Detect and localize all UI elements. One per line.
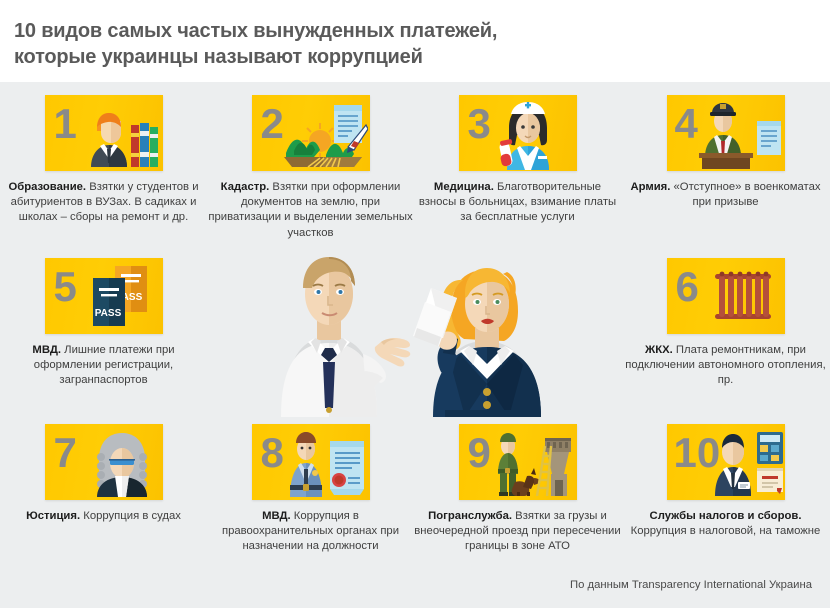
page-title-line-2: которые украинцы называют коррупцией (14, 44, 714, 70)
card-1-title: Образование. (8, 181, 86, 193)
tax-officer-calculator-icon (709, 430, 785, 496)
passports-icon: PASS PASS (85, 264, 159, 330)
card-6[interactable]: 6 (621, 258, 830, 389)
infographic-canvas: 10 видов самых частых вынужденных платеж… (0, 0, 830, 608)
card-3-title: Медицина. (434, 181, 494, 193)
border-guard-tower-icon (489, 430, 575, 496)
card-9-number: 9 (468, 432, 491, 474)
card-3[interactable]: 3 (414, 95, 621, 226)
man-and-woman-with-papers-illustration (255, 242, 575, 417)
card-8[interactable]: 8 (207, 424, 414, 555)
card-6-number: 6 (676, 266, 699, 308)
military-officer-desk-icon (693, 99, 783, 169)
card-3-number: 3 (468, 103, 491, 145)
card-4-text: «Отступное» в военкоматах при призыве (670, 181, 820, 208)
card-2-caption: Кадастр. Взятки при оформлении документо… (207, 180, 414, 241)
card-10-caption: Службы налогов и сборов. Коррупция в нал… (621, 509, 830, 539)
card-10-title: Службы налогов и сборов. (650, 510, 802, 522)
source-note: По данным Transparency International Укр… (570, 579, 812, 591)
card-7-image: 7 (45, 424, 163, 500)
card-5-number: 5 (54, 266, 77, 308)
card-1[interactable]: 1 (0, 95, 207, 226)
card-8-text: Коррупция в правоохранительных органах п… (222, 510, 399, 552)
card-7-caption: Юстиция. Коррупция в судах (0, 509, 207, 524)
card-5-caption: МВД. Лишние платежи при оформлении регис… (0, 343, 207, 389)
card-8-caption: МВД. Коррупция в правоохранительных орга… (207, 509, 414, 555)
card-3-caption: Медицина. Благотворительные взносы в бол… (414, 180, 621, 226)
businessman-shrugging (281, 257, 410, 417)
card-7-number: 7 (54, 432, 77, 474)
card-7[interactable]: 7 (0, 424, 207, 524)
card-4-title: Армия. (630, 181, 670, 193)
card-8-number: 8 (261, 432, 284, 474)
card-8-image: 8 (252, 424, 370, 500)
card-row-3: 7 (0, 424, 830, 574)
card-1-image: 1 (45, 95, 163, 171)
card-3-image: 3 (459, 95, 577, 171)
card-row-1: 1 (0, 95, 830, 245)
header: 10 видов самых частых вынужденных платеж… (0, 0, 830, 82)
page-title: 10 видов самых частых вынужденных платеж… (14, 18, 714, 70)
card-2-image: 2 (252, 95, 370, 171)
graduate-with-books-icon (83, 103, 161, 167)
card-2[interactable]: 2 (207, 95, 414, 241)
card-10[interactable]: 10 (621, 424, 830, 539)
card-5[interactable]: 5 PASS PASS (0, 258, 207, 389)
card-9-caption: Погранслужба. Взятки за грузы и внеочере… (414, 509, 621, 555)
businesswoman-holding-papers (413, 268, 541, 417)
card-5-image: 5 PASS PASS (45, 258, 163, 334)
card-4[interactable]: 4 (621, 95, 830, 210)
page-title-line-1: 10 видов самых частых вынужденных платеж… (14, 20, 497, 42)
card-1-number: 1 (54, 103, 77, 145)
card-10-text: Коррупция в налоговой, на таможне (631, 525, 821, 537)
card-4-image: 4 (667, 95, 785, 171)
card-10-image: 10 (667, 424, 785, 500)
card-7-text: Коррупция в судах (80, 510, 181, 522)
card-2-title: Кадастр. (221, 181, 270, 193)
judge-wig-icon (85, 429, 159, 497)
radiator-icon (711, 268, 775, 326)
card-6-image: 6 (667, 258, 785, 334)
card-row-2: 5 PASS PASS (0, 258, 830, 408)
land-document-icon (278, 101, 368, 169)
card-9[interactable]: 9 (414, 424, 621, 555)
nurse-icon (495, 98, 571, 170)
card-9-image: 9 (459, 424, 577, 500)
card-7-title: Юстиция. (26, 510, 80, 522)
card-6-caption: ЖКХ. Плата ремонтникам, при подключении … (621, 343, 830, 389)
card-5-title: МВД. (32, 344, 61, 356)
card-1-caption: Образование. Взятки у студентов и абитур… (0, 180, 207, 226)
card-4-caption: Армия. «Отступное» в военкоматах при при… (621, 180, 830, 210)
card-6-title: ЖКХ. (645, 344, 673, 356)
card-8-title: МВД. (262, 510, 291, 522)
policeman-document-icon (284, 429, 368, 497)
card-9-title: Погранслужба. (428, 510, 512, 522)
passport-label-blue: PASS (94, 308, 121, 319)
